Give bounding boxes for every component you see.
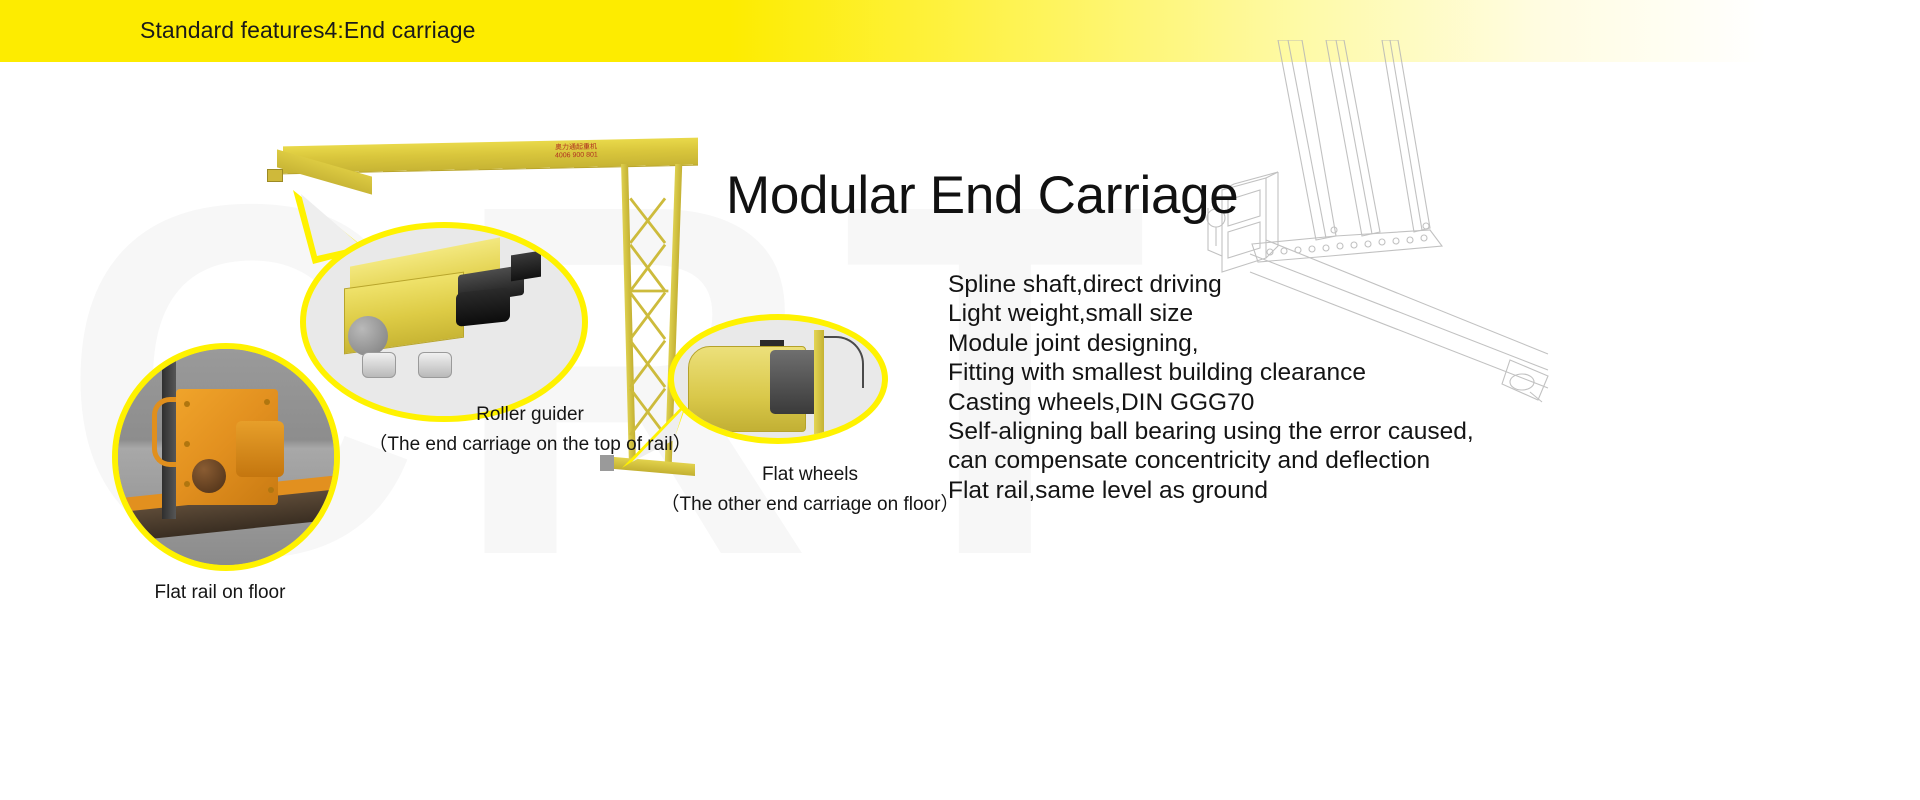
- flat-rail-bolt: [184, 401, 190, 407]
- caption-title: Flat rail on floor: [110, 578, 330, 608]
- caption-subtitle: （The other end carriage on floor）: [640, 490, 980, 520]
- flat-wheels-cable: [824, 336, 864, 388]
- callout-flat-wheels[interactable]: [668, 314, 888, 444]
- caption-title: Roller guider: [360, 400, 700, 430]
- caption-title: Flat wheels: [640, 460, 980, 490]
- feature-item: Casting wheels,DIN GGG70: [948, 388, 1468, 417]
- caption-roller-guider: Roller guider （The end carriage on the t…: [360, 400, 700, 460]
- main-heading: Modular End Carriage: [726, 165, 1238, 226]
- page-title: Standard features4:End carriage: [140, 17, 476, 44]
- feature-item: Fitting with smallest building clearance: [948, 358, 1468, 387]
- feature-item: Flat rail,same level as ground: [948, 476, 1468, 505]
- caption-subtitle: （The end carriage on the top of rail）: [360, 430, 700, 460]
- callout-flat-rail[interactable]: [112, 343, 340, 571]
- flat-wheels-post: [814, 330, 824, 438]
- caption-flat-rail: Flat rail on floor: [110, 578, 330, 608]
- flat-rail-bolt: [268, 487, 274, 493]
- feature-item: Light weight,small size: [948, 299, 1468, 328]
- crane-beam-branding: 奥力通起重机 4006 900 801: [555, 144, 598, 161]
- roller-guider-wheel-rear: [418, 352, 452, 378]
- roller-guider-roller: [348, 316, 388, 356]
- feature-item: Spline shaft,direct driving: [948, 270, 1468, 299]
- roller-guider-wheel-front: [362, 352, 396, 378]
- flat-rail-shaft-knob: [192, 459, 226, 493]
- callout-roller-guider[interactable]: [300, 222, 588, 422]
- roller-guider-gearbox: [456, 287, 510, 327]
- feature-item: Module joint designing,: [948, 329, 1468, 358]
- feature-list: Spline shaft,direct driving Light weight…: [948, 270, 1468, 505]
- feature-item: can compensate concentricity and deflect…: [948, 446, 1468, 475]
- caption-flat-wheels: Flat wheels （The other end carriage on f…: [640, 460, 980, 520]
- flat-rail-bolt: [264, 399, 270, 405]
- flat-rail-bolt: [184, 481, 190, 487]
- flat-rail-gearbox-face: [236, 421, 284, 477]
- flat-rail-bolt: [184, 441, 190, 447]
- feature-item: Self-aligning ball bearing using the err…: [948, 417, 1468, 446]
- roller-guider-motor-cap: [511, 251, 541, 282]
- slide-root: Standard features4:End carriage CRT: [0, 0, 1920, 800]
